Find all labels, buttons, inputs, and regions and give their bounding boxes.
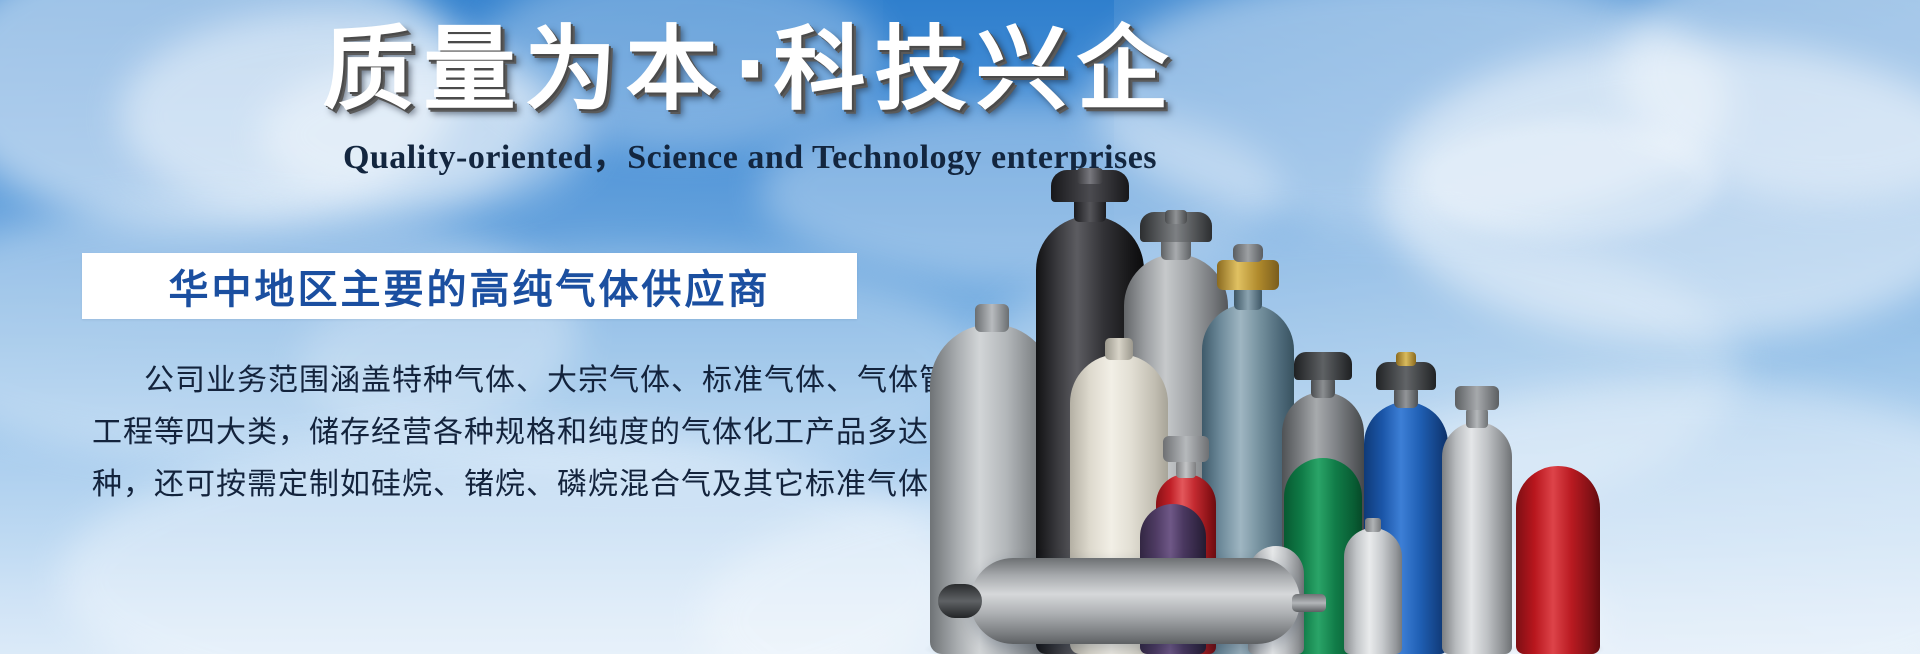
slogan-box: 华中地区主要的高纯气体供应商 [82, 253, 857, 319]
headline-part-1: 质量为本 [323, 16, 727, 123]
cylinder-neck [975, 304, 1009, 332]
cylinder-body [1442, 422, 1512, 654]
description-line-2: 工程等四大类，储存经营各种规格和纯度的气体化工产品多达上百 [92, 407, 882, 459]
cylinder-valve [1165, 210, 1187, 224]
cylinder-neck [1105, 338, 1133, 360]
cylinder-valve [1396, 352, 1416, 366]
cylinder-neck [1466, 408, 1488, 428]
slogan-text: 华中地区主要的高纯气体供应商 [169, 257, 771, 315]
description-line-1: 公司业务范围涵盖特种气体、大宗气体、标准气体、气体管道 [92, 355, 882, 407]
cylinder-valve [1163, 436, 1209, 462]
horizontal-cylinder-valve [938, 584, 982, 618]
red-bottom-cylinder [1516, 454, 1600, 654]
description-paragraph: 公司业务范围涵盖特种气体、大宗气体、标准气体、气体管道 工程等四大类，储存经营各… [92, 355, 882, 511]
horizontal-grey-cylinder [970, 558, 1300, 644]
cylinder-valve [1455, 386, 1499, 410]
horizontal-cylinder-nozzle [1292, 594, 1326, 612]
small-aluminium-cylinder [1344, 514, 1402, 654]
cylinder-body [1516, 466, 1600, 654]
cylinder-neck [1365, 518, 1381, 532]
headline-separator: · [727, 16, 774, 123]
cylinder-brass-valve [1217, 260, 1279, 290]
promotional-banner: 质量为本·科技兴企 Quality-oriented，Science and T… [0, 0, 1920, 654]
cylinder-valve-cap [1376, 362, 1436, 390]
cylinder-body [1344, 528, 1402, 654]
cylinder-neck [1176, 460, 1196, 478]
cylinder-valve-handwheel [1233, 244, 1263, 262]
description-line-3: 种，还可按需定制如硅烷、锗烷、磷烷混合气及其它标准气体。 [92, 459, 882, 511]
aluminium-cylinder [1442, 384, 1512, 654]
gas-cylinder-group-photo [930, 0, 1920, 654]
cylinder-valve-cap [1294, 352, 1352, 380]
cylinder-valve [1077, 168, 1103, 184]
